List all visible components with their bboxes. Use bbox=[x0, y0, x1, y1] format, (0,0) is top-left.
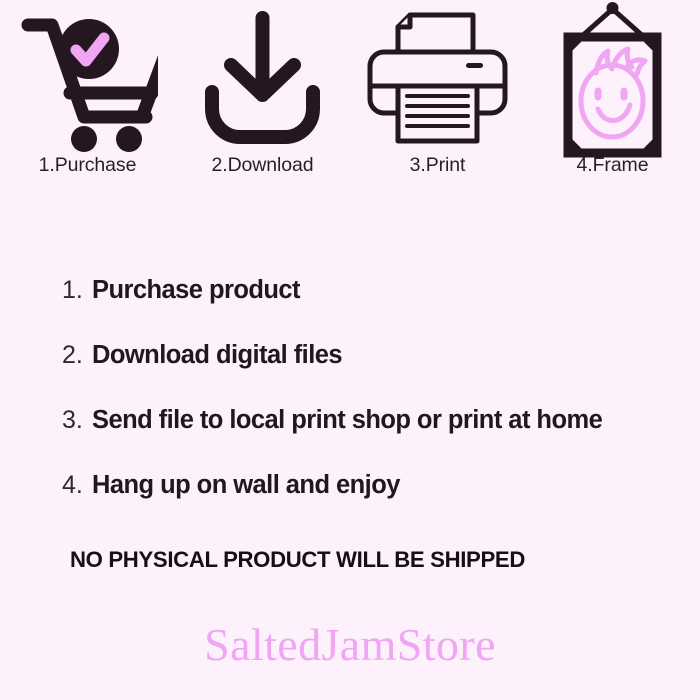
shopping-cart-check-icon bbox=[18, 0, 158, 160]
step-icon-caption: 2.Download bbox=[212, 156, 314, 176]
list-item: 2. Download digital files bbox=[62, 341, 662, 406]
list-item-number: 3. bbox=[62, 406, 92, 435]
list-item-number: 1. bbox=[62, 276, 92, 305]
step-icon-caption: 3.Print bbox=[410, 156, 466, 176]
list-item: 3. Send file to local print shop or prin… bbox=[62, 406, 662, 471]
download-tray-icon bbox=[200, 0, 325, 160]
list-item-label: Hang up on wall and enjoy bbox=[92, 471, 400, 500]
step-icon-print: 3.Print bbox=[350, 0, 525, 205]
list-item-number: 2. bbox=[62, 341, 92, 370]
store-brand-wordmark: SaltedJamStore bbox=[0, 622, 700, 668]
step-icon-download: 2.Download bbox=[175, 0, 350, 205]
steps-icon-strip: 1.Purchase 2.Download bbox=[0, 0, 700, 205]
list-item-label: Send file to local print shop or print a… bbox=[92, 406, 602, 435]
no-physical-product-disclaimer: NO PHYSICAL PRODUCT WILL BE SHIPPED bbox=[70, 547, 525, 573]
step-icon-caption: 1.Purchase bbox=[39, 156, 137, 176]
hanging-picture-frame-icon bbox=[550, 0, 675, 160]
step-icon-caption: 4.Frame bbox=[577, 156, 649, 176]
list-item: 4. Hang up on wall and enjoy bbox=[62, 471, 662, 536]
list-item-number: 4. bbox=[62, 471, 92, 500]
printer-icon bbox=[365, 0, 510, 160]
list-item: 1. Purchase product bbox=[62, 276, 662, 341]
step-icon-frame: 4.Frame bbox=[525, 0, 700, 205]
list-item-label: Purchase product bbox=[92, 276, 300, 305]
step-icon-purchase: 1.Purchase bbox=[0, 0, 175, 205]
list-item-label: Download digital files bbox=[92, 341, 342, 370]
instructions-list: 1. Purchase product 2. Download digital … bbox=[62, 276, 662, 536]
